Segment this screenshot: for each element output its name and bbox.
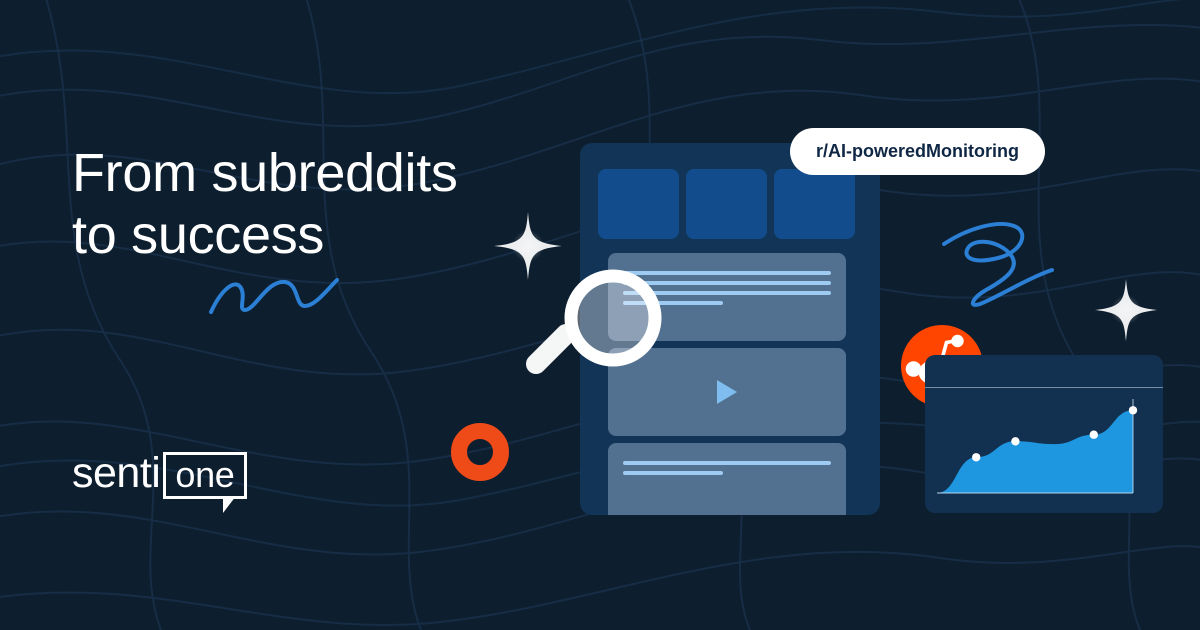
subreddit-badge[interactable]: r/AI-poweredMonitoring <box>790 128 1045 175</box>
sentione-logo[interactable]: senti one <box>72 452 247 499</box>
logo-bubble-tail <box>223 496 236 513</box>
card-line <box>623 461 831 465</box>
promo-banner: From subreddits to success <box>0 0 1200 630</box>
sparkle-icon <box>1093 277 1159 343</box>
chart-point <box>1090 431 1098 439</box>
squiggle-underline-icon <box>205 272 345 318</box>
page-title: From subreddits to success <box>72 142 542 266</box>
chart-card[interactable] <box>925 355 1163 513</box>
panel-tiles <box>598 169 855 239</box>
chart-point <box>1011 437 1019 445</box>
bottom-card[interactable] <box>608 443 846 515</box>
play-icon[interactable] <box>717 380 737 404</box>
logo-text-senti: senti <box>72 452 160 495</box>
card-line <box>623 471 723 475</box>
magnifying-glass-icon[interactable] <box>520 268 680 388</box>
chart-point <box>972 453 980 461</box>
chart-point <box>1129 406 1137 414</box>
panel-tile[interactable] <box>686 169 767 239</box>
panel-tile[interactable] <box>774 169 855 239</box>
logo-text-one: one <box>175 456 234 494</box>
cursive-doodle-icon <box>938 218 1058 314</box>
area-chart <box>925 387 1163 513</box>
logo-speech-bubble: one <box>163 452 246 499</box>
ring-decoration <box>451 423 509 481</box>
panel-tile[interactable] <box>598 169 679 239</box>
